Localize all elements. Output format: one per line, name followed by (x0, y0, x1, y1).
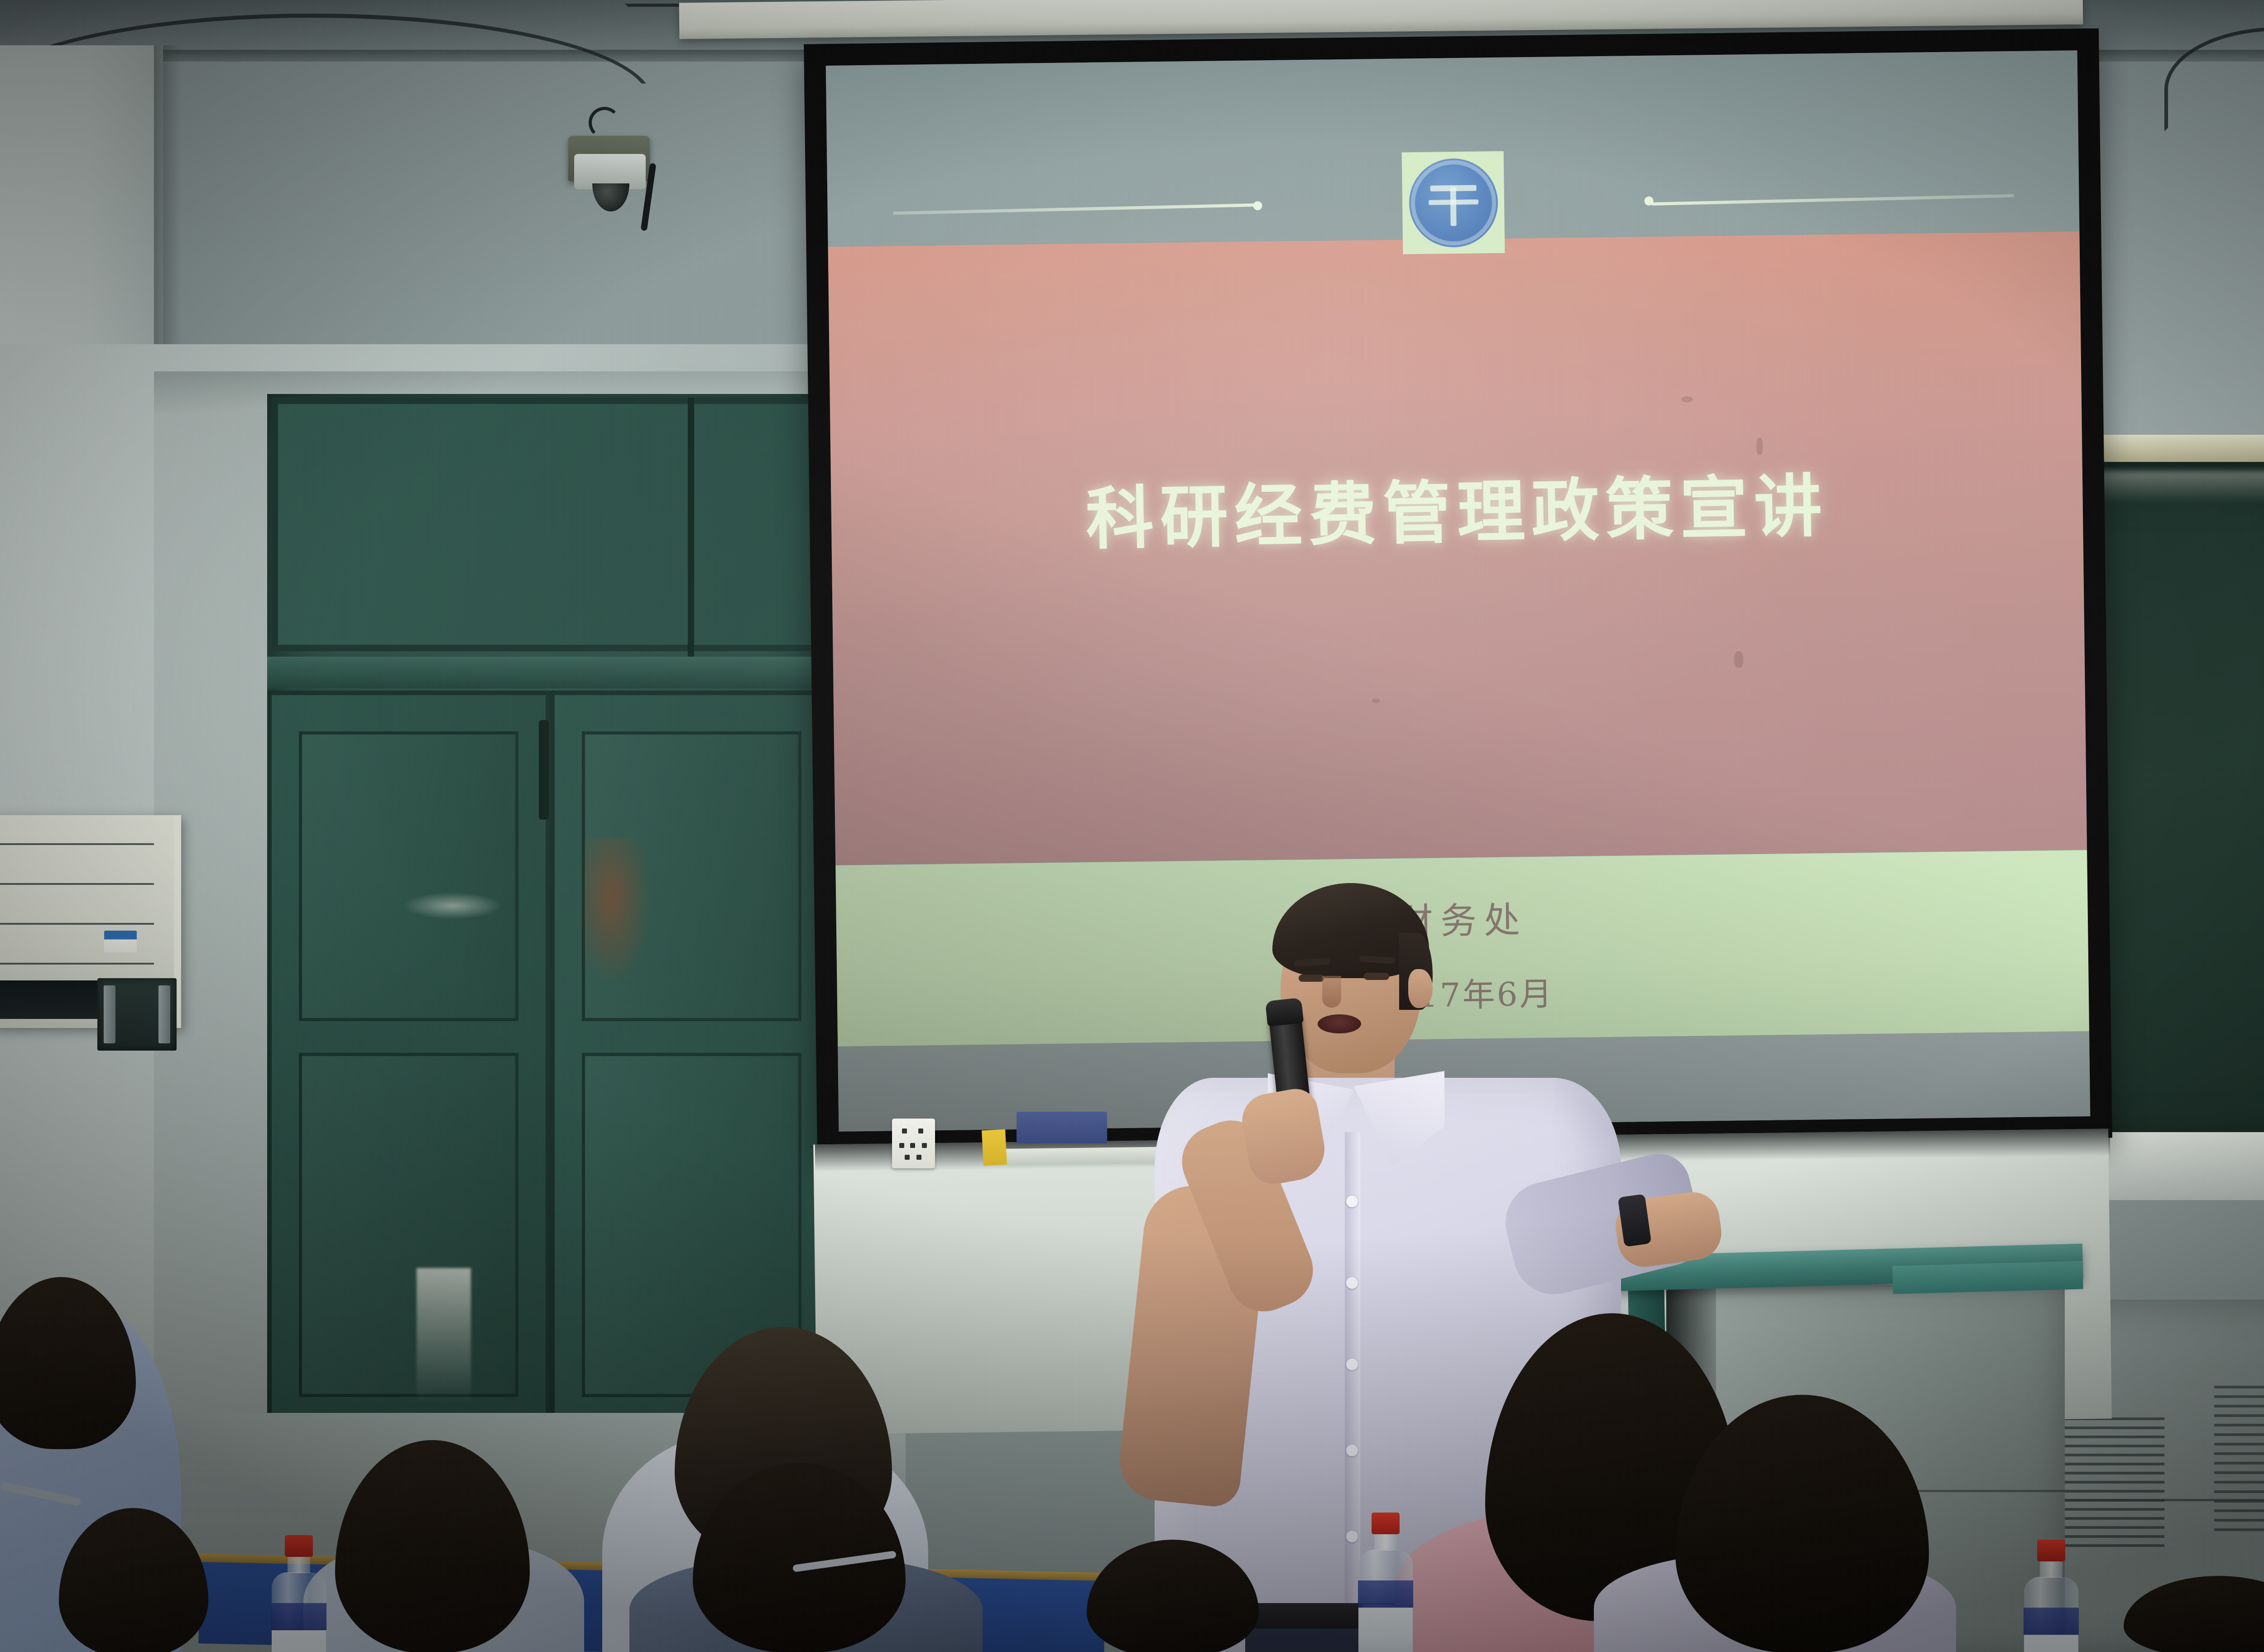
door-rust-stain (584, 838, 652, 987)
door-leaf-right[interactable] (550, 691, 833, 1436)
water-bottle[interactable] (1354, 1513, 1417, 1652)
logo-plate (1402, 151, 1505, 255)
shirt-button (1346, 1196, 1358, 1207)
bottle-cap (2037, 1540, 2065, 1561)
wall-power-socket[interactable] (892, 1119, 935, 1168)
bottle-neck (1374, 1532, 1397, 1551)
water-bottle[interactable] (2019, 1540, 2083, 1652)
bottle-label (2024, 1635, 2078, 1652)
ac-wall-bracket (97, 978, 177, 1051)
presenter-eye (1364, 973, 1389, 980)
bottle-label-blue (2024, 1608, 2079, 1635)
photograph-scene: Radiant (0, 0, 2264, 1652)
bottle-label-blue (271, 1603, 326, 1630)
ac-air-outlet (0, 980, 109, 1019)
shirt-button (1346, 1445, 1358, 1456)
bottle-neck (2040, 1560, 2063, 1578)
door-paint-scuff (417, 1268, 471, 1404)
microphone-head (1265, 998, 1304, 1027)
bottle-label-blue (1358, 1580, 1413, 1608)
door-dust-mark (403, 892, 503, 919)
bottle-neck (288, 1555, 310, 1573)
ac-louver (0, 883, 154, 885)
door-panel (299, 731, 518, 1021)
sticky-note (982, 1129, 1007, 1166)
bottle-label (1358, 1608, 1413, 1652)
university-emblem-icon (1408, 158, 1498, 248)
podium-upper-shelf[interactable] (1892, 1261, 2083, 1294)
decorative-rule-dot-right (1645, 196, 1654, 205)
bottle-cap (1372, 1513, 1400, 1534)
presenter-nose (1322, 976, 1341, 1008)
camera-cable-loop-left (589, 107, 620, 139)
presenter-mouth-speaking (1318, 1014, 1361, 1033)
cabinet-vent-grill (2214, 1386, 2264, 1540)
screen-blemish (1756, 438, 1763, 455)
ac-louver (0, 963, 154, 965)
green-double-doors[interactable] (267, 394, 833, 1436)
bottle-label (272, 1630, 326, 1652)
water-bottle[interactable] (267, 1535, 331, 1652)
presenter-ear (1408, 969, 1433, 1008)
door-panel (299, 1053, 518, 1397)
shirt-button (1346, 1277, 1358, 1289)
ac-louver (0, 923, 154, 925)
emblem-glyph (1426, 178, 1480, 227)
screen-blemish (1734, 652, 1743, 668)
decorative-rule-dot-left (1253, 201, 1262, 210)
door-transom-window (272, 398, 829, 651)
bottle-cap (285, 1535, 313, 1557)
ac-louver (0, 843, 154, 845)
presenter-eye (1299, 975, 1324, 982)
door-latch[interactable] (539, 720, 549, 820)
door-mid-rail (267, 657, 833, 688)
door-leaf-left[interactable] (267, 691, 550, 1436)
shirt-button (1346, 1359, 1358, 1370)
ac-energy-label (104, 931, 137, 952)
blue-box-on-ledge (1017, 1112, 1107, 1143)
